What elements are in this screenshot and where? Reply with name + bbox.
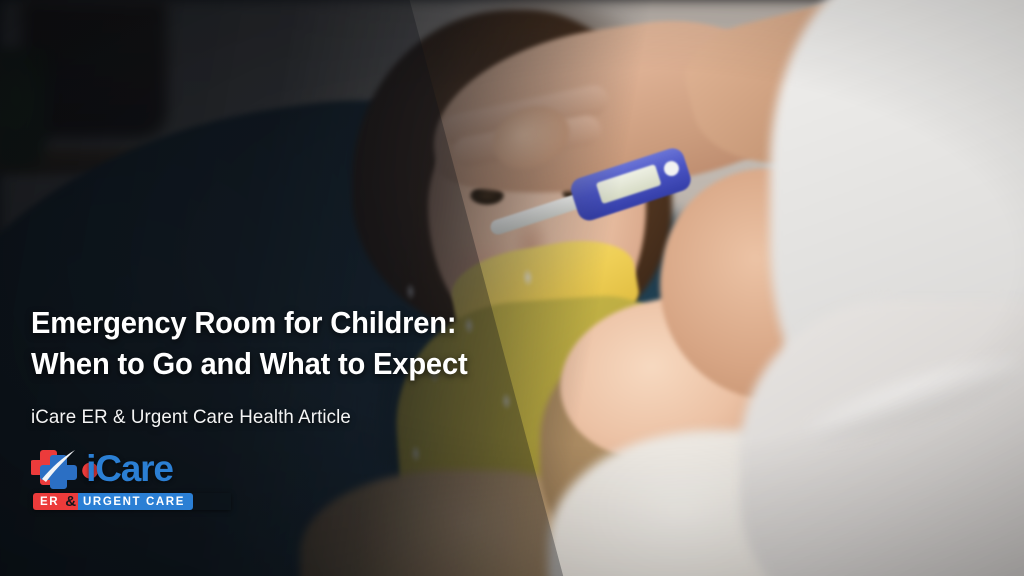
tagline-er: ER	[33, 493, 65, 510]
logo-wordmark-row: ●iCare	[31, 446, 231, 490]
tagline-urgent-care: URGENT CARE	[78, 493, 193, 510]
tagline-ampersand: &	[65, 493, 78, 510]
page-title: Emergency Room for Children: When to Go …	[31, 302, 520, 384]
article-header-banner: Emergency Room for Children: When to Go …	[0, 0, 1024, 576]
headline-block: Emergency Room for Children: When to Go …	[31, 302, 551, 429]
medical-cross-icon	[31, 446, 81, 490]
logo-tagline: ER & URGENT CARE	[33, 493, 231, 510]
logo-wordmark: ●iCare	[79, 450, 173, 487]
logo-word-care: Care	[95, 448, 172, 489]
icare-logo[interactable]: ●iCare ER & URGENT CARE	[31, 446, 231, 510]
plant-leaf	[0, 48, 48, 168]
logo-letter-i: i	[83, 448, 95, 489]
page-subtitle: iCare ER & Urgent Care Health Article	[31, 406, 530, 429]
